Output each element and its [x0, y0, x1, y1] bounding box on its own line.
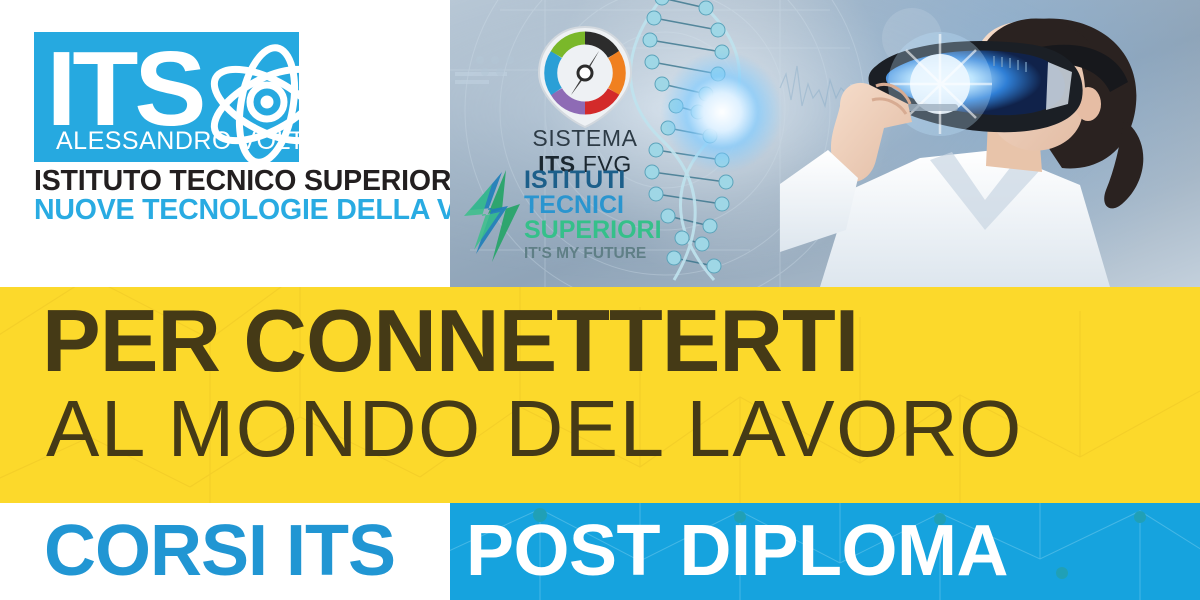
- its2-text-block: ISTITUTI TECNICI SUPERIORI IT'S MY FUTUR…: [524, 168, 664, 265]
- compass-pin-icon: [537, 25, 633, 129]
- footer-right-text: POST DIPLOMA: [466, 510, 1008, 592]
- its-volta-logo: ITS ALESSANDRO VOLTA ISTITUTO TECNICO SU…: [34, 32, 364, 222]
- hero-photo: SISTEMA ITS FVG ISTITUTI TECNICI SUPERIO…: [450, 0, 1200, 287]
- logo-panel: ITS ALESSANDRO VOLTA ISTITUTO TECNICO SU…: [0, 0, 450, 287]
- footer-left-text: CORSI ITS: [44, 510, 395, 592]
- footer-band: CORSI ITS POST DIPLOMA: [0, 503, 1200, 600]
- istituti-tecnici-superiori-logo: ISTITUTI TECNICI SUPERIORI IT'S MY FUTUR…: [458, 168, 658, 273]
- its2-line-2: TECNICI: [524, 193, 664, 218]
- institute-line-1: ISTITUTO TECNICO SUPERIORE: [34, 166, 450, 196]
- its2-tagline: IT'S MY FUTURE: [524, 243, 664, 265]
- its2-line-1: ISTITUTI: [524, 168, 664, 193]
- headline-line-2: AL MONDO DEL LAVORO: [46, 383, 1023, 475]
- headline-line-1: PER CONNETTERTI: [42, 293, 858, 389]
- headline-band: PER CONNETTERTI AL MONDO DEL LAVORO: [0, 287, 1200, 503]
- vr-woman-photo: [780, 0, 1200, 287]
- energy-glow: [662, 52, 782, 172]
- its2-line-3: SUPERIORI: [524, 218, 664, 243]
- atom-icon: [202, 40, 332, 170]
- poster-banner: ITS ALESSANDRO VOLTA ISTITUTO TECNICO SU…: [0, 0, 1200, 600]
- sistema-its-fvg-logo: SISTEMA ITS FVG: [505, 25, 665, 165]
- institute-line-2: NUOVE TECNOLOGIE DELLA VITA: [34, 195, 450, 225]
- fvg-line-1: SISTEMA: [505, 125, 665, 151]
